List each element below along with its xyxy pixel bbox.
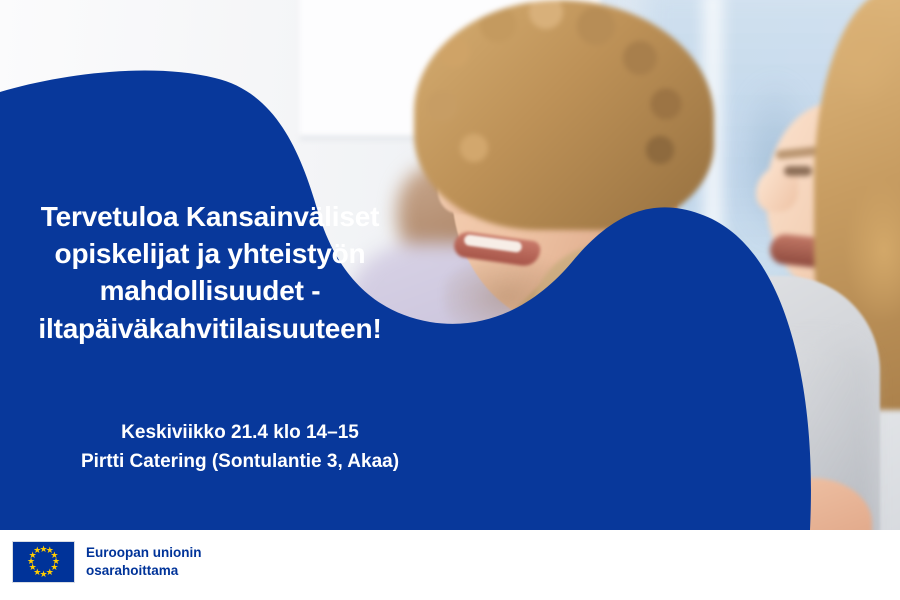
event-datetime: Keskiviikko 21.4 klo 14–15 bbox=[0, 418, 480, 447]
event-details: Keskiviikko 21.4 klo 14–15 Pirtti Cateri… bbox=[0, 418, 480, 476]
headline-line-1: Tervetuloa Kansainväliset bbox=[0, 198, 420, 235]
eu-logo-text: Euroopan unionin osarahoittama bbox=[86, 544, 201, 580]
headline-line-2: opiskelijat ja yhteistyön bbox=[0, 235, 420, 272]
partner-logo-bar: Euroopan unionin osarahoittama KOHTA PIR… bbox=[0, 530, 900, 600]
event-venue: Pirtti Catering (Sontulantie 3, Akaa) bbox=[0, 447, 480, 476]
eu-logo: Euroopan unionin osarahoittama bbox=[12, 541, 201, 583]
eu-logo-text-line-1: Euroopan unionin bbox=[86, 544, 201, 562]
eu-flag-icon bbox=[12, 541, 75, 583]
event-poster: ad Tervetuloa Kansainväliset opiskelijat… bbox=[0, 0, 900, 600]
headline-line-3: mahdollisuudet - bbox=[0, 272, 420, 309]
page-title: Tervetuloa Kansainväliset opiskelijat ja… bbox=[0, 198, 420, 347]
headline-line-4: iltapäiväkahvitilaisuuteen! bbox=[0, 310, 420, 347]
eu-logo-text-line-2: osarahoittama bbox=[86, 562, 201, 580]
